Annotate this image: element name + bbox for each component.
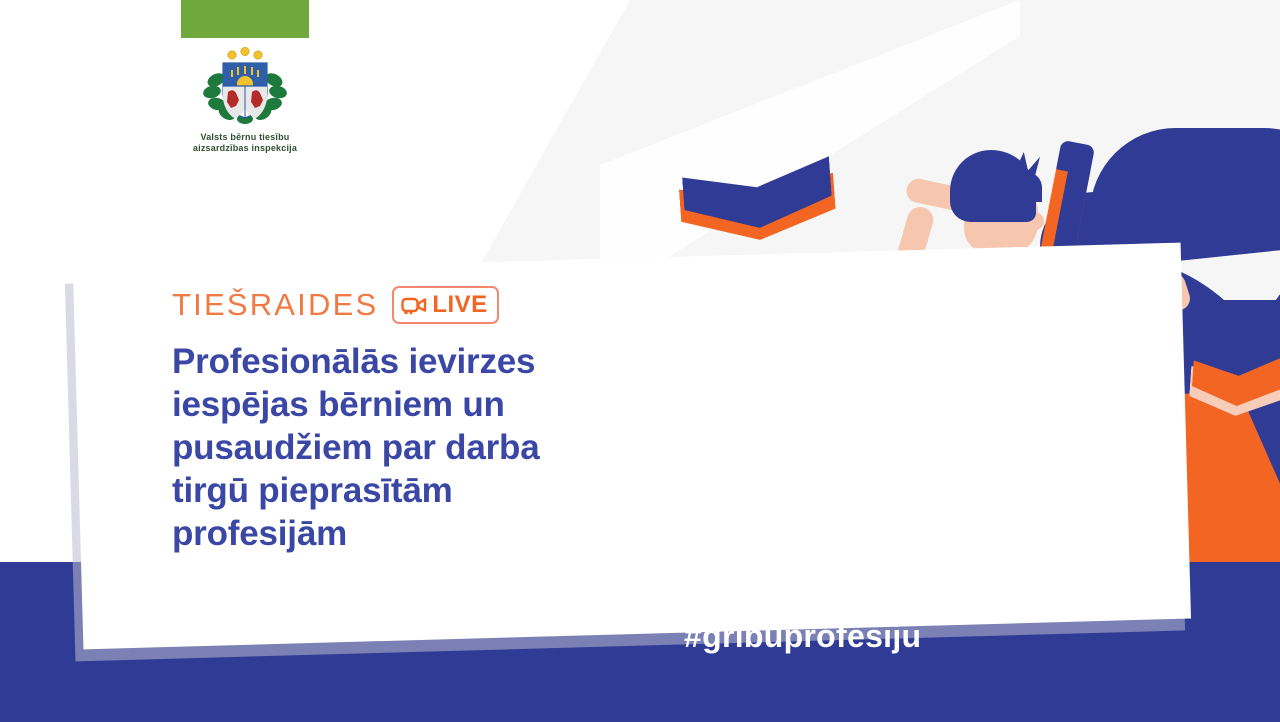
eyebrow-row: TIEŠRAIDES LIVE bbox=[172, 286, 652, 324]
live-badge-label: LIVE bbox=[432, 291, 487, 319]
content-text-block: TIEŠRAIDES LIVE Profesionālās ievirzes i… bbox=[172, 286, 652, 555]
headline-line-3: pusaudžiem par darba bbox=[172, 428, 539, 467]
live-badge[interactable]: LIVE bbox=[392, 286, 498, 324]
pencil-cap bbox=[1056, 140, 1095, 176]
promo-banner: Valsts bērnu tiesību aizsardzības inspek… bbox=[0, 0, 1280, 722]
logo-institution-name: Valsts bērnu tiesību aizsardzības inspek… bbox=[160, 132, 330, 154]
latvian-coat-of-arms-icon bbox=[200, 46, 290, 126]
hashtag: #gribuprofesiju bbox=[684, 618, 921, 655]
headline-line-4: tirgū pieprasītām bbox=[172, 471, 453, 510]
video-camera-icon bbox=[401, 296, 427, 315]
headline-line-2: iespējas bērniem un bbox=[172, 385, 505, 424]
flying-book-blue-icon bbox=[677, 155, 838, 251]
headline-line-5: profesijām bbox=[172, 514, 347, 553]
eyebrow-label: TIEŠRAIDES bbox=[172, 287, 378, 323]
flying-book-orange-icon bbox=[1188, 353, 1280, 419]
logo-line-2: aizsardzības inspekcija bbox=[193, 143, 297, 153]
logo-block: Valsts bērnu tiesību aizsardzības inspek… bbox=[160, 0, 330, 154]
boy-fringe bbox=[958, 172, 1042, 202]
headline-line-1: Profesionālās ievirzes bbox=[172, 342, 535, 381]
green-bar bbox=[181, 0, 309, 38]
page-title: Profesionālās ievirzes iespējas bērniem … bbox=[172, 340, 652, 555]
logo-line-1: Valsts bērnu tiesību bbox=[200, 132, 289, 142]
